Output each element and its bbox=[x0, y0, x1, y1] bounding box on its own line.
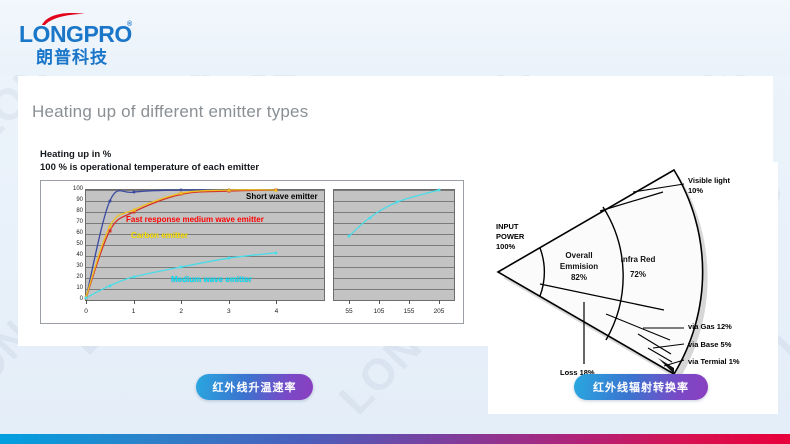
overall-emission-label: Overall Emmision 82% bbox=[550, 250, 608, 283]
page-title: Heating up of different emitter types bbox=[32, 102, 308, 122]
chart-y-tick: 20 bbox=[76, 274, 83, 280]
chart-y-tick: 50 bbox=[76, 241, 83, 247]
chart-caption-line-1: Heating up in % bbox=[40, 148, 259, 161]
chart-x-tick: 4 bbox=[275, 308, 279, 315]
chart-x-tickmark bbox=[134, 300, 135, 304]
chart-x-tickmark bbox=[349, 300, 350, 304]
button-radiation-conversion[interactable]: 红外线辐射转换率 bbox=[574, 374, 708, 400]
visible-light-line-1: Visible light bbox=[688, 176, 730, 186]
input-power-line-2: POWER bbox=[496, 232, 524, 242]
chart-data-point bbox=[108, 284, 111, 287]
overall-emission-line-2: Emmision bbox=[550, 261, 608, 272]
chart-x-tick: 3 bbox=[227, 308, 231, 315]
chart-data-point bbox=[227, 257, 230, 260]
chart-y-tick: 100 bbox=[73, 186, 83, 192]
chart-x-tickmark bbox=[409, 300, 410, 304]
chart-data-point bbox=[180, 266, 183, 269]
chart-plot-far: 55105155205 bbox=[333, 189, 455, 301]
chart-x-tick: 1 bbox=[132, 308, 136, 315]
chart-y-tick: 90 bbox=[76, 197, 83, 203]
visible-light-label: Visible light 10% bbox=[688, 176, 730, 196]
chart-caption-line-2: 100 % is operational temperature of each… bbox=[40, 161, 259, 174]
button-heating-rate[interactable]: 红外线升温速率 bbox=[196, 374, 313, 400]
chart-series-label: Carbon emitter bbox=[131, 231, 188, 240]
chart-y-tick: 60 bbox=[76, 230, 83, 236]
chart-x-tickmark bbox=[439, 300, 440, 304]
chart-x-tick: 105 bbox=[374, 308, 385, 315]
chart-data-point bbox=[108, 224, 112, 228]
chart-data-point bbox=[85, 296, 88, 299]
input-power-line-1: INPUT bbox=[496, 222, 524, 232]
chart-data-point bbox=[132, 275, 135, 278]
chart-x-tickmark bbox=[229, 300, 230, 304]
chart-x-tickmark bbox=[379, 300, 380, 304]
chart-data-point bbox=[438, 189, 441, 192]
via-gas-label: via Gas 12% bbox=[688, 322, 732, 332]
chart-data-point bbox=[275, 251, 278, 254]
chart-data-point bbox=[348, 235, 351, 238]
chart-x-tickmark bbox=[181, 300, 182, 304]
via-base-label: via Base 5% bbox=[688, 340, 731, 350]
infra-red-label: Infra Red 72% bbox=[610, 254, 666, 280]
logo-registered-mark: ® bbox=[127, 21, 132, 28]
overall-emission-line-1: Overall bbox=[550, 250, 608, 261]
visible-light-value: 10% bbox=[688, 186, 730, 196]
chart-series-label: Short wave emitter bbox=[246, 192, 318, 201]
logo-chinese-name: 朗普科技 bbox=[36, 43, 108, 68]
chart-series-label: Medium wave emitter bbox=[171, 275, 252, 284]
chart-line bbox=[349, 190, 439, 236]
emitter-heating-chart: 010203040506070809010001234 55105155205 … bbox=[40, 180, 464, 324]
chart-y-tick: 10 bbox=[76, 285, 83, 291]
chart-x-tick: 2 bbox=[179, 308, 183, 315]
input-power-label: INPUT POWER 100% bbox=[496, 222, 524, 252]
infra-red-value: 72% bbox=[610, 269, 666, 280]
header-bar: LONGPRO ® 朗普科技 bbox=[0, 0, 790, 75]
chart-data-point bbox=[274, 188, 278, 192]
chart-y-tick: 80 bbox=[76, 208, 83, 214]
overall-emission-value: 82% bbox=[550, 272, 608, 283]
chart-x-tick: 55 bbox=[345, 308, 352, 315]
chart-series-layer bbox=[334, 190, 454, 300]
infra-red-line-1: Infra Red bbox=[610, 254, 666, 265]
chart-gridline bbox=[86, 300, 324, 301]
chart-plot-near: 010203040506070809010001234 bbox=[85, 189, 325, 301]
chart-y-tick: 70 bbox=[76, 219, 83, 225]
chart-data-point bbox=[132, 207, 136, 211]
chart-y-tick: 40 bbox=[76, 252, 83, 258]
chart-caption: Heating up in % 100 % is operational tem… bbox=[40, 148, 259, 174]
chart-y-tick: 0 bbox=[80, 296, 83, 302]
chart-data-point bbox=[396, 201, 399, 204]
chart-x-tick: 155 bbox=[404, 308, 415, 315]
chart-series-label: Fast response medium wave emitter bbox=[126, 215, 264, 224]
chart-data-point bbox=[227, 188, 231, 192]
chart-y-tick: 30 bbox=[76, 263, 83, 269]
content-card: Heating up of different emitter types He… bbox=[18, 76, 773, 346]
chart-x-tick: 0 bbox=[84, 308, 88, 315]
chart-x-tickmark bbox=[276, 300, 277, 304]
chart-data-point bbox=[179, 191, 183, 195]
input-power-value: 100% bbox=[496, 242, 524, 252]
chart-x-tickmark bbox=[86, 300, 87, 304]
chart-data-point bbox=[132, 191, 135, 194]
chart-data-point bbox=[369, 216, 372, 219]
company-logo: LONGPRO ® 朗普科技 bbox=[19, 12, 144, 62]
chart-data-point bbox=[108, 229, 111, 232]
via-termial-label: via Termial 1% bbox=[688, 357, 740, 367]
chart-gridline bbox=[334, 300, 454, 301]
chart-data-point bbox=[108, 200, 111, 203]
chart-x-tick: 205 bbox=[434, 308, 445, 315]
bottom-gradient-bar bbox=[0, 434, 790, 444]
